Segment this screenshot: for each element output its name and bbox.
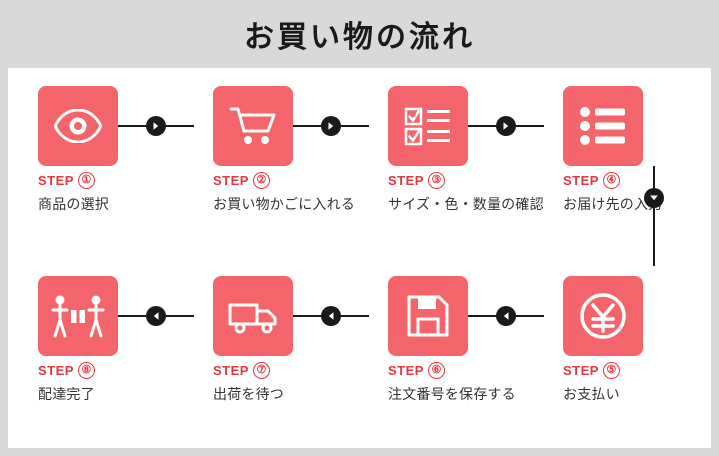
flow-row-bottom: STEP ⑧ 配達完了 [8, 258, 711, 448]
step-8-tile [38, 276, 118, 356]
flow-step-4[interactable]: STEP ④ お届け先の入力 [541, 68, 701, 258]
step-2-label: STEP ② [213, 172, 363, 189]
step-7-caption: 出荷を待つ [213, 384, 378, 405]
step-1-caption: 商品の選択 [38, 194, 203, 215]
flow-step-2[interactable]: STEP ② お買い物かごに入れる [191, 68, 351, 258]
flow-board: STEP ① 商品の選択 STEP [8, 68, 711, 448]
step-1-label: STEP ① [38, 172, 188, 189]
step-number: ⑥ [428, 362, 445, 379]
arrow-down-icon [644, 188, 664, 208]
step-1-tile [38, 86, 118, 166]
page-title: お買い物の流れ [244, 12, 475, 56]
step-word: STEP [388, 173, 424, 188]
flow-row-top: STEP ① 商品の選択 STEP [8, 68, 711, 258]
step-4-label: STEP ④ [563, 172, 713, 189]
delivery-handoff-icon [51, 294, 105, 338]
step-number: ① [78, 172, 95, 189]
flow-step-7[interactable]: STEP ⑦ 出荷を待つ [191, 258, 351, 448]
step-number: ⑤ [603, 362, 620, 379]
checklist-icon [404, 106, 452, 146]
step-7-tile [213, 276, 293, 356]
flow-diagram-page: お買い物の流れ [0, 0, 719, 456]
page-header: お買い物の流れ [0, 0, 719, 68]
flow-step-1[interactable]: STEP ① 商品の選択 [16, 68, 176, 258]
step-5-caption: お支払い [563, 384, 719, 405]
step-2-caption: お買い物かごに入れる [213, 194, 378, 215]
step-4-tile [563, 86, 643, 166]
step-4-caption: お届け先の入力 [563, 194, 719, 215]
eye-icon [54, 109, 102, 143]
step-6-tile [388, 276, 468, 356]
step-3-label: STEP ③ [388, 172, 538, 189]
truck-icon [227, 297, 279, 335]
step-2-tile [213, 86, 293, 166]
connector-line-4-5 [653, 166, 655, 266]
step-number: ④ [603, 172, 620, 189]
flow-step-8[interactable]: STEP ⑧ 配達完了 [16, 258, 176, 448]
step-word: STEP [213, 363, 249, 378]
step-number: ⑦ [253, 362, 270, 379]
bullet-list-icon [580, 107, 626, 145]
step-number: ⑧ [78, 362, 95, 379]
flow-step-6[interactable]: STEP ⑥ 注文番号を保存する [366, 258, 526, 448]
step-3-caption: サイズ・色・数量の確認 [388, 194, 553, 215]
flow-step-3[interactable]: STEP ③ サイズ・色・数量の確認 [366, 68, 526, 258]
step-8-caption: 配達完了 [38, 384, 203, 405]
step-word: STEP [388, 363, 424, 378]
step-word: STEP [213, 173, 249, 188]
step-6-caption: 注文番号を保存する [388, 384, 553, 405]
step-word: STEP [38, 173, 74, 188]
step-5-label: STEP ⑤ [563, 362, 713, 379]
flow-step-5[interactable]: STEP ⑤ お支払い [541, 258, 701, 448]
floppy-disk-save-icon [407, 295, 449, 337]
step-number: ② [253, 172, 270, 189]
step-8-label: STEP ⑧ [38, 362, 188, 379]
step-word: STEP [563, 173, 599, 188]
shopping-cart-icon [229, 105, 277, 147]
step-number: ③ [428, 172, 445, 189]
step-word: STEP [38, 363, 74, 378]
yen-coin-icon [580, 293, 626, 339]
step-3-tile [388, 86, 468, 166]
step-5-tile [563, 276, 643, 356]
step-6-label: STEP ⑥ [388, 362, 538, 379]
step-word: STEP [563, 363, 599, 378]
step-7-label: STEP ⑦ [213, 362, 363, 379]
